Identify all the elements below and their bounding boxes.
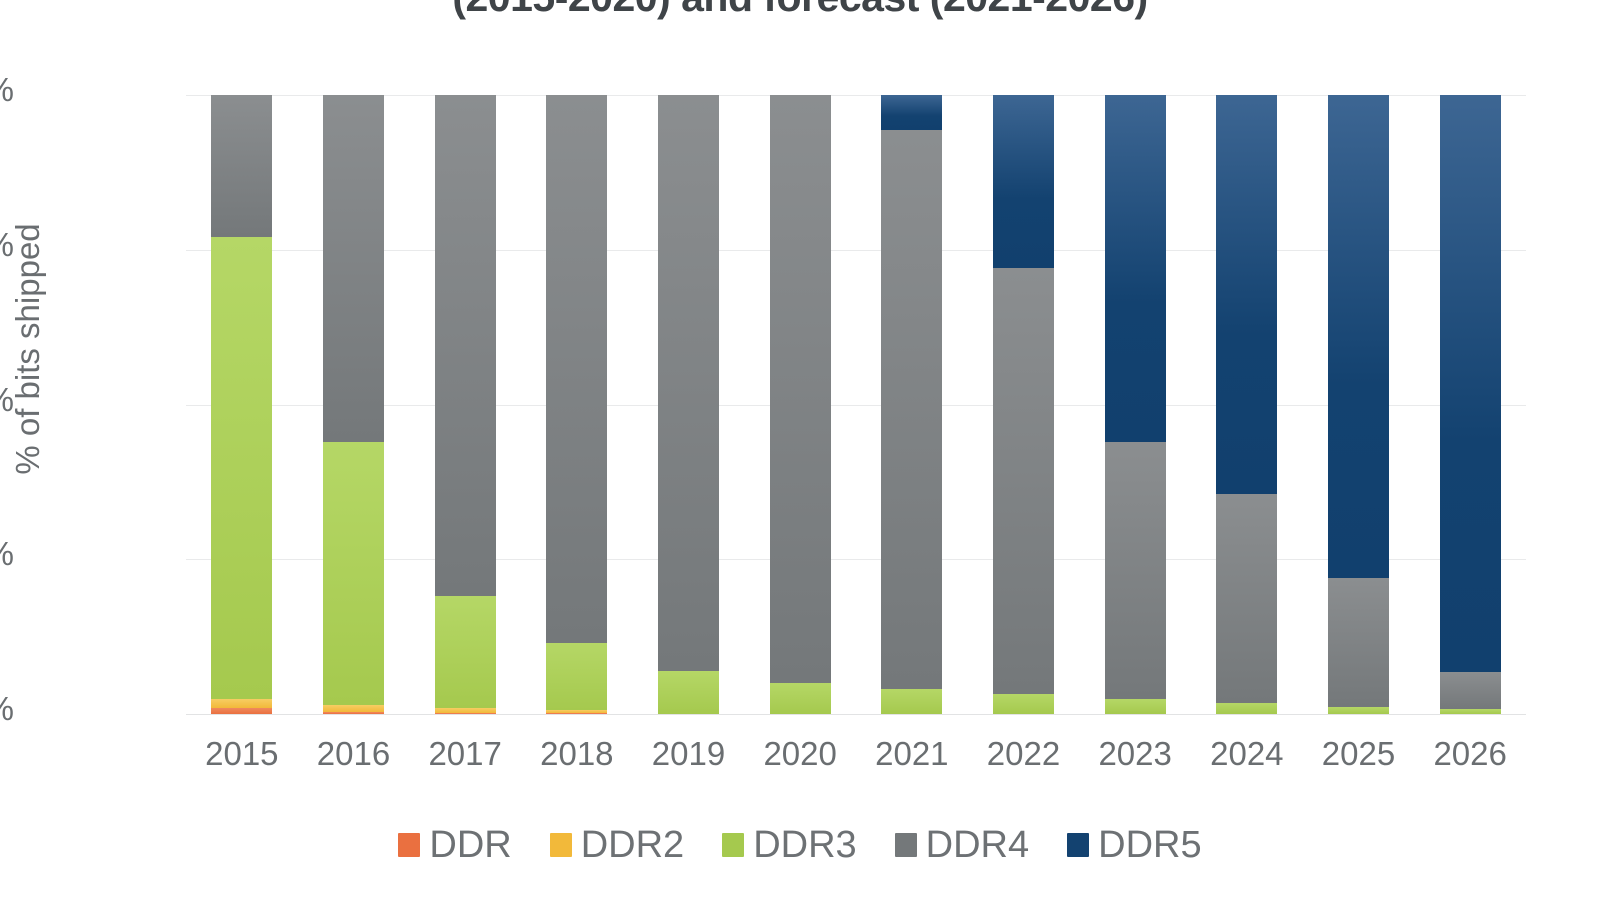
- bar-segment-ddr5[interactable]: [1105, 95, 1166, 442]
- x-axis-tick-label: 2021: [856, 735, 968, 773]
- bar-segment-ddr3[interactable]: [770, 683, 831, 714]
- bar-group[interactable]: [1216, 95, 1277, 714]
- y-axis-tick-label: 0%: [0, 690, 14, 728]
- bar-stack: [1440, 95, 1501, 714]
- legend-label: DDR: [429, 826, 511, 864]
- legend-swatch-icon: [895, 833, 917, 857]
- y-axis-tick-label: 25%: [0, 535, 14, 573]
- bar-segment-ddr3[interactable]: [1105, 699, 1166, 714]
- legend-swatch-icon: [398, 833, 420, 857]
- bar-segment-ddr2[interactable]: [211, 699, 272, 708]
- bar-segment-ddr4[interactable]: [881, 130, 942, 689]
- bar-segment-ddr4[interactable]: [770, 95, 831, 683]
- bar-segment-ddr4[interactable]: [546, 95, 607, 643]
- bar-segment-ddr4[interactable]: [211, 95, 272, 237]
- legend-swatch-icon: [1067, 833, 1089, 857]
- bar-stack: [323, 95, 384, 714]
- bars-layer: [186, 95, 1526, 714]
- bar-group[interactable]: [1105, 95, 1166, 714]
- legend-swatch-icon: [550, 833, 572, 857]
- legend-label: DDR4: [926, 826, 1029, 864]
- x-axis-tick-label: 2022: [968, 735, 1080, 773]
- bar-segment-ddr[interactable]: [546, 713, 607, 714]
- chart-container: (2015-2020) and forecast (2021-2026) % o…: [0, 0, 1600, 900]
- bar-segment-ddr3[interactable]: [211, 237, 272, 698]
- bar-group[interactable]: [658, 95, 719, 714]
- bar-segment-ddr4[interactable]: [435, 95, 496, 596]
- bar-stack: [770, 95, 831, 714]
- bar-segment-ddr3[interactable]: [546, 643, 607, 710]
- legend-item-ddr4[interactable]: DDR4: [895, 826, 1029, 864]
- legend-item-ddr2[interactable]: DDR2: [550, 826, 684, 864]
- legend-label: DDR3: [753, 826, 856, 864]
- bar-segment-ddr4[interactable]: [658, 95, 719, 671]
- legend-label: DDR5: [1098, 826, 1201, 864]
- chart-legend: DDRDDR2DDR3DDR4DDR5: [0, 826, 1600, 864]
- bar-stack: [1105, 95, 1166, 714]
- x-axis-tick-label: 2018: [521, 735, 633, 773]
- bar-segment-ddr3[interactable]: [881, 689, 942, 714]
- bar-segment-ddr3[interactable]: [323, 442, 384, 706]
- bar-group[interactable]: [1440, 95, 1501, 714]
- legend-swatch-icon: [722, 833, 744, 857]
- bar-segment-ddr[interactable]: [211, 708, 272, 714]
- x-axis-tick-label: 2015: [186, 735, 298, 773]
- bar-segment-ddr3[interactable]: [435, 596, 496, 708]
- x-axis-tick-label: 2019: [633, 735, 745, 773]
- bar-segment-ddr3[interactable]: [1216, 703, 1277, 714]
- bar-segment-ddr4[interactable]: [993, 268, 1054, 694]
- legend-item-ddr[interactable]: DDR: [398, 826, 511, 864]
- y-axis-tick-label: 75%: [0, 226, 14, 264]
- bar-stack: [993, 95, 1054, 714]
- bar-stack: [435, 95, 496, 714]
- bar-segment-ddr4[interactable]: [323, 95, 384, 442]
- bar-group[interactable]: [211, 95, 272, 714]
- bar-segment-ddr4[interactable]: [1328, 578, 1389, 707]
- bar-group[interactable]: [1328, 95, 1389, 714]
- bar-segment-ddr5[interactable]: [1328, 95, 1389, 578]
- plot-area: [186, 95, 1526, 714]
- x-axis-tick-label: 2023: [1079, 735, 1191, 773]
- bar-group[interactable]: [770, 95, 831, 714]
- y-axis-title: % of bits shipped: [9, 139, 47, 559]
- bar-segment-ddr5[interactable]: [1440, 95, 1501, 672]
- bar-segment-ddr3[interactable]: [1328, 707, 1389, 714]
- bar-stack: [211, 95, 272, 714]
- legend-item-ddr3[interactable]: DDR3: [722, 826, 856, 864]
- bar-segment-ddr5[interactable]: [881, 95, 942, 130]
- bar-segment-ddr3[interactable]: [993, 694, 1054, 714]
- bar-segment-ddr[interactable]: [435, 713, 496, 714]
- x-axis-tick-label: 2020: [744, 735, 856, 773]
- x-axis-tick-label: 2016: [298, 735, 410, 773]
- bar-segment-ddr5[interactable]: [993, 95, 1054, 268]
- bar-segment-ddr3[interactable]: [658, 671, 719, 714]
- bar-stack: [658, 95, 719, 714]
- bar-segment-ddr5[interactable]: [1216, 95, 1277, 494]
- bar-group[interactable]: [881, 95, 942, 714]
- x-axis-tick-label: 2026: [1414, 735, 1526, 773]
- bar-stack: [1216, 95, 1277, 714]
- legend-item-ddr5[interactable]: DDR5: [1067, 826, 1201, 864]
- bar-group[interactable]: [546, 95, 607, 714]
- chart-title: (2015-2020) and forecast (2021-2026): [0, 0, 1600, 25]
- bar-segment-ddr4[interactable]: [1216, 494, 1277, 703]
- y-axis-tick-label: 50%: [0, 381, 14, 419]
- y-axis-tick-label: 100%: [0, 71, 14, 109]
- bar-group[interactable]: [993, 95, 1054, 714]
- x-axis-tick-label: 2017: [409, 735, 521, 773]
- bar-group[interactable]: [323, 95, 384, 714]
- bar-segment-ddr4[interactable]: [1105, 442, 1166, 700]
- x-axis-tick-label: 2025: [1303, 735, 1415, 773]
- bar-segment-ddr[interactable]: [323, 712, 384, 714]
- bar-stack: [546, 95, 607, 714]
- x-axis-tick-label: 2024: [1191, 735, 1303, 773]
- gridline: [186, 714, 1526, 715]
- bar-stack: [881, 95, 942, 714]
- bar-stack: [1328, 95, 1389, 714]
- bar-segment-ddr4[interactable]: [1440, 672, 1501, 709]
- bar-group[interactable]: [435, 95, 496, 714]
- bar-segment-ddr3[interactable]: [1440, 709, 1501, 714]
- legend-label: DDR2: [581, 826, 684, 864]
